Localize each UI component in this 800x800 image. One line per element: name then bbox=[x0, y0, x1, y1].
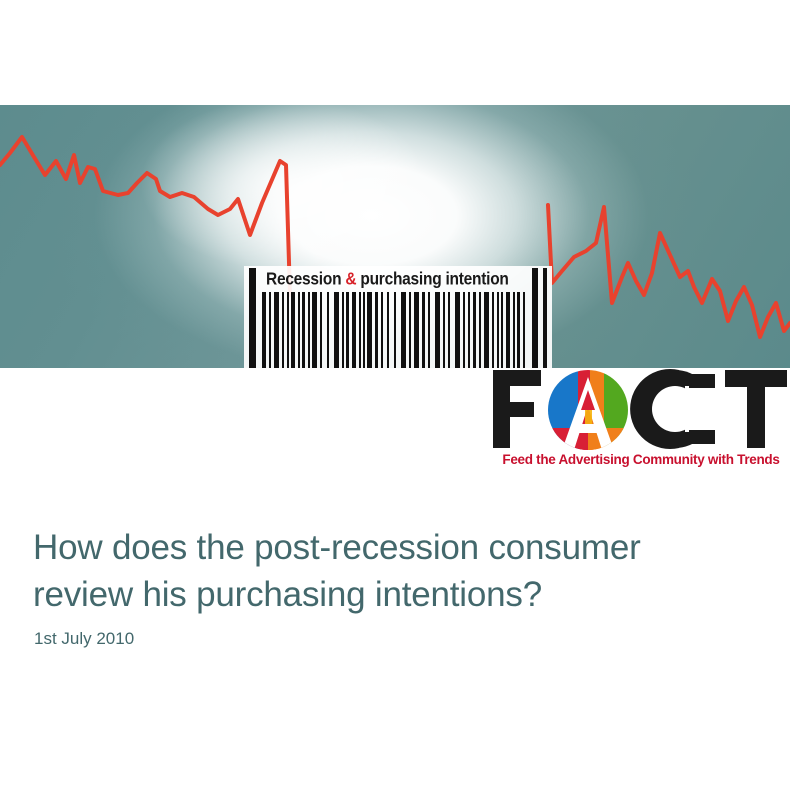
logo-letter-f bbox=[493, 370, 541, 448]
page-title: How does the post-recession consumer rev… bbox=[33, 524, 753, 618]
barcode-graphic: Recession & purchasing intention bbox=[244, 266, 552, 368]
slide-date: 1st July 2010 bbox=[34, 629, 134, 649]
page-title-line-2: review his purchasing intentions? bbox=[33, 571, 753, 618]
logo-letter-c bbox=[630, 369, 717, 449]
chart-line-right bbox=[548, 205, 790, 337]
logo-letter-t bbox=[725, 370, 787, 448]
barcode-title-prefix: Recession bbox=[266, 270, 345, 289]
barcode-title: Recession & purchasing intention bbox=[266, 270, 538, 290]
fact-logo: Feed the Advertising Community with Tren… bbox=[489, 366, 791, 478]
recession-banner: Recession & purchasing intention bbox=[0, 105, 790, 368]
barcode-title-suffix: purchasing intention bbox=[356, 270, 508, 289]
logo-letter-a-wheel bbox=[548, 370, 628, 450]
title-slide: Recession & purchasing intention bbox=[0, 0, 800, 800]
page-title-line-1: How does the post-recession consumer bbox=[33, 524, 753, 571]
barcode-title-ampersand: & bbox=[345, 270, 356, 289]
fact-logo-tagline: Feed the Advertising Community with Tren… bbox=[490, 452, 792, 467]
fact-logo-mark bbox=[489, 366, 791, 452]
